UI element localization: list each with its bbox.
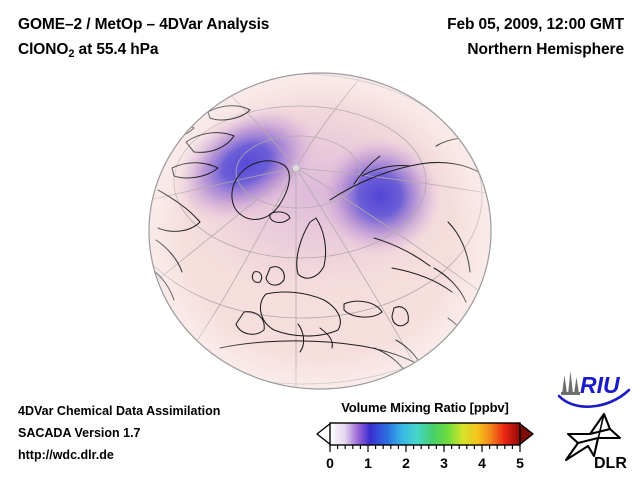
region-label: Northern Hemisphere — [447, 37, 624, 62]
riu-logo-svg: RIU — [556, 368, 632, 410]
footer-credits: 4DVar Chemical Data Assimilation SACADA … — [18, 400, 220, 466]
colorbar-tick-label: 2 — [402, 455, 410, 471]
credit-line-version: SACADA Version 1.7 — [18, 422, 220, 444]
colorbar-under-arrow — [317, 423, 331, 445]
riu-tower-icon — [561, 371, 580, 395]
dlr-logo-svg: DLR — [564, 412, 632, 472]
pressure-level-label: at 55.4 hPa — [74, 41, 158, 58]
colorbar-title: Volume Mixing Ratio [ppbv] — [300, 400, 550, 415]
colorbar-tick-labels: 012345 — [326, 455, 524, 471]
page-subtitle: ClONO2 at 55.4 hPa — [18, 37, 269, 64]
colorbar: Volume Mixing Ratio [ppbv] 012345 — [300, 400, 550, 473]
colorbar-tick-label: 1 — [364, 455, 372, 471]
species-label: ClONO — [18, 41, 68, 58]
credit-line-method: 4DVar Chemical Data Assimilation — [18, 400, 220, 422]
riu-logo: RIU — [556, 368, 632, 410]
credit-line-url: http://wdc.dlr.de — [18, 444, 220, 466]
colorbar-tick-label: 3 — [440, 455, 448, 471]
colorbar-tick-label: 5 — [516, 455, 524, 471]
dlr-wordmark: DLR — [594, 455, 627, 472]
species-subscript: 2 — [68, 48, 74, 60]
colorbar-tick-label: 0 — [326, 455, 334, 471]
timestamp-label: Feb 05, 2009, 12:00 GMT — [447, 12, 624, 37]
colorbar-over-arrow — [519, 423, 533, 445]
riu-wordmark: RIU — [580, 372, 621, 398]
globe-map — [148, 72, 492, 390]
colorbar-svg: 012345 — [300, 421, 550, 473]
header-meta-block: Feb 05, 2009, 12:00 GMT Northern Hemisph… — [447, 12, 624, 62]
limb-shading — [149, 73, 491, 389]
colorbar-gradient-body — [330, 423, 520, 445]
globe-svg — [148, 72, 492, 390]
colorbar-tick-label: 4 — [478, 455, 486, 471]
header-title-block: GOME–2 / MetOp – 4DVar Analysis ClONO2 a… — [18, 12, 269, 64]
page-title: GOME–2 / MetOp – 4DVar Analysis — [18, 12, 269, 37]
north-pole-marker — [293, 165, 300, 172]
dlr-logo: DLR — [564, 412, 632, 472]
colorbar-ticks — [330, 445, 520, 452]
dlr-mark-icon — [566, 414, 620, 460]
